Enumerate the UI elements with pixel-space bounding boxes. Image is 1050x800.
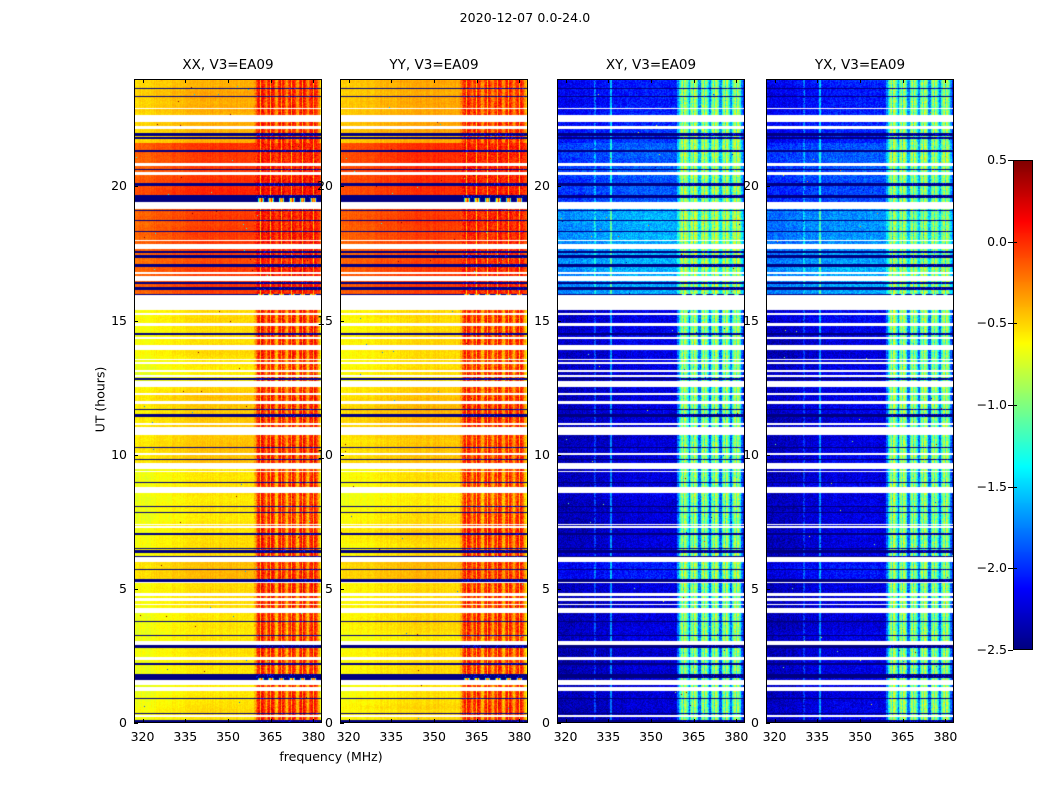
x-tick-mark <box>608 79 609 83</box>
y-tick-mark <box>766 723 770 724</box>
x-tick-mark <box>817 719 818 723</box>
x-tick-label-350: 350 <box>206 729 250 744</box>
y-tick-mark <box>557 723 561 724</box>
x-tick-mark <box>566 79 567 83</box>
x-tick-mark <box>860 79 861 83</box>
y-tick-mark <box>134 455 138 456</box>
colorbar-tick-label-4: −0.5 <box>967 315 1007 330</box>
panel-frame-xy <box>557 79 745 723</box>
colorbar-tick-label-6: 0.5 <box>967 152 1007 167</box>
colorbar-tick-mark-inner <box>1013 242 1017 243</box>
x-tick-label-365: 365 <box>881 729 925 744</box>
x-tick-label-365: 365 <box>672 729 716 744</box>
colorbar-tick-label-0: −2.5 <box>967 642 1007 657</box>
x-tick-mark <box>860 719 861 723</box>
y-tick-label-15: 15 <box>94 313 127 328</box>
y-tick-label-20: 20 <box>517 178 550 193</box>
panel-xy[interactable]: XY, V3=EA09 <box>557 79 745 723</box>
y-tick-label-20: 20 <box>300 178 333 193</box>
y-tick-label-10: 10 <box>300 447 333 462</box>
panel-frame-yx <box>766 79 954 723</box>
y-tick-mark <box>134 589 138 590</box>
x-tick-mark <box>228 79 229 83</box>
x-tick-mark <box>271 719 272 723</box>
panel-xx[interactable]: XX, V3=EA09 <box>134 79 322 723</box>
y-tick-mark <box>557 589 561 590</box>
panel-title-xx: XX, V3=EA09 <box>134 57 322 73</box>
y-tick-mark <box>766 455 770 456</box>
x-tick-mark <box>313 79 314 83</box>
x-tick-label-335: 335 <box>795 729 839 744</box>
y-tick-label-0: 0 <box>94 715 127 730</box>
y-tick-label-15: 15 <box>300 313 333 328</box>
x-tick-label-380: 380 <box>497 729 541 744</box>
x-tick-mark <box>143 719 144 723</box>
x-tick-mark <box>185 79 186 83</box>
x-tick-label-335: 335 <box>586 729 630 744</box>
x-tick-mark <box>651 79 652 83</box>
x-tick-mark <box>566 719 567 723</box>
x-tick-mark <box>349 719 350 723</box>
panel-frame-yy <box>340 79 528 723</box>
y-tick-label-15: 15 <box>517 313 550 328</box>
x-tick-label-365: 365 <box>455 729 499 744</box>
colorbar-tick-mark-inner <box>1013 323 1017 324</box>
y-tick-mark <box>557 321 561 322</box>
y-tick-mark <box>340 455 344 456</box>
x-tick-mark <box>608 719 609 723</box>
y-tick-label-5: 5 <box>726 581 759 596</box>
y-tick-label-5: 5 <box>517 581 550 596</box>
y-tick-label-0: 0 <box>517 715 550 730</box>
colorbar-tick-mark-inner <box>1013 487 1017 488</box>
y-tick-label-10: 10 <box>726 447 759 462</box>
y-tick-mark <box>766 186 770 187</box>
x-tick-mark <box>519 79 520 83</box>
y-tick-label-15: 15 <box>726 313 759 328</box>
x-tick-label-320: 320 <box>121 729 165 744</box>
x-tick-mark <box>477 719 478 723</box>
panel-yx[interactable]: YX, V3=EA09 <box>766 79 954 723</box>
x-tick-mark <box>736 79 737 83</box>
y-tick-label-5: 5 <box>94 581 127 596</box>
x-axis-label: frequency (MHz) <box>134 749 528 764</box>
x-tick-mark <box>349 79 350 83</box>
colorbar-tick-mark <box>1008 160 1013 161</box>
figure-canvas: 2020-12-07 0.0-24.0 XX, V3=EA09 YY, V3=E… <box>0 0 1050 800</box>
y-tick-label-20: 20 <box>726 178 759 193</box>
x-tick-label-350: 350 <box>629 729 673 744</box>
x-tick-label-380: 380 <box>923 729 967 744</box>
x-tick-mark <box>477 79 478 83</box>
x-tick-mark <box>775 79 776 83</box>
panel-title-yx: YX, V3=EA09 <box>766 57 954 73</box>
y-tick-mark <box>134 723 138 724</box>
y-tick-mark <box>134 186 138 187</box>
panel-yy[interactable]: YY, V3=EA09 <box>340 79 528 723</box>
x-tick-mark <box>228 719 229 723</box>
y-tick-mark <box>340 186 344 187</box>
y-tick-label-5: 5 <box>300 581 333 596</box>
panel-title-xy: XY, V3=EA09 <box>557 57 745 73</box>
x-tick-mark <box>945 719 946 723</box>
x-tick-label-320: 320 <box>327 729 371 744</box>
y-tick-mark <box>766 589 770 590</box>
x-tick-label-365: 365 <box>249 729 293 744</box>
colorbar-tick-mark <box>1008 650 1013 651</box>
y-tick-mark <box>340 589 344 590</box>
colorbar-tick-label-1: −2.0 <box>967 560 1007 575</box>
x-tick-mark <box>945 79 946 83</box>
y-tick-mark <box>557 186 561 187</box>
y-tick-label-0: 0 <box>300 715 333 730</box>
y-tick-mark <box>340 321 344 322</box>
y-tick-label-10: 10 <box>94 447 127 462</box>
x-tick-label-350: 350 <box>838 729 882 744</box>
y-tick-mark <box>340 723 344 724</box>
x-tick-mark <box>903 79 904 83</box>
panel-frame-xx <box>134 79 322 723</box>
colorbar-tick-mark-inner <box>1013 568 1017 569</box>
x-tick-mark <box>434 719 435 723</box>
x-tick-label-320: 320 <box>544 729 588 744</box>
y-tick-label-0: 0 <box>726 715 759 730</box>
x-tick-label-320: 320 <box>753 729 797 744</box>
x-tick-mark <box>434 79 435 83</box>
y-tick-label-10: 10 <box>517 447 550 462</box>
x-tick-label-350: 350 <box>412 729 456 744</box>
x-tick-mark <box>143 79 144 83</box>
x-tick-mark <box>903 719 904 723</box>
colorbar-tick-label-3: −1.0 <box>967 397 1007 412</box>
x-tick-mark <box>271 79 272 83</box>
colorbar-tick-label-5: 0.0 <box>967 234 1007 249</box>
figure-title: 2020-12-07 0.0-24.0 <box>0 10 1050 25</box>
x-tick-mark <box>775 719 776 723</box>
y-tick-mark <box>134 321 138 322</box>
x-tick-mark <box>391 79 392 83</box>
panel-title-yy: YY, V3=EA09 <box>340 57 528 73</box>
y-tick-mark <box>557 455 561 456</box>
y-tick-mark <box>766 321 770 322</box>
x-tick-label-335: 335 <box>369 729 413 744</box>
x-tick-mark <box>694 79 695 83</box>
colorbar-tick-label-2: −1.5 <box>967 479 1007 494</box>
colorbar-tick-mark-inner <box>1013 405 1017 406</box>
x-tick-mark <box>651 719 652 723</box>
x-tick-mark <box>817 79 818 83</box>
x-tick-mark <box>694 719 695 723</box>
x-tick-mark <box>391 719 392 723</box>
y-tick-label-20: 20 <box>94 178 127 193</box>
x-tick-mark <box>185 719 186 723</box>
x-tick-label-335: 335 <box>163 729 207 744</box>
